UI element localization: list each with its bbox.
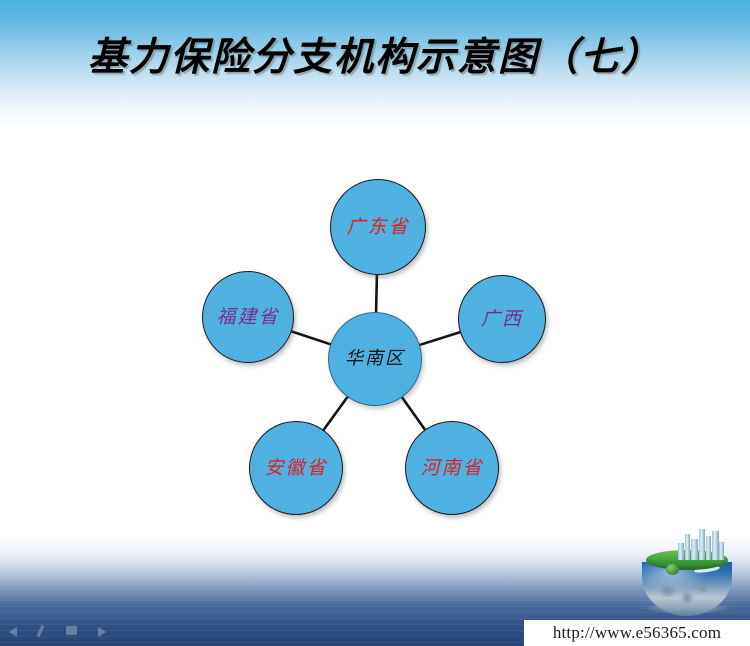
diagram-node-branch[interactable]: 福建省 [202,271,294,363]
diagram-node-branch[interactable]: 广东省 [330,179,426,275]
city-skyline-icon [678,528,724,560]
connector-line [323,396,348,431]
next-slide-icon[interactable] [92,624,108,638]
diagram-node-label: 广东省 [346,218,409,237]
diagram-node-branch[interactable]: 广西 [458,275,546,363]
tree-icon [666,564,679,575]
diagram-node-label: 广西 [481,310,523,329]
connector-line [419,332,461,345]
connector-line [402,397,426,431]
diagram-node-branch[interactable]: 安徽省 [249,421,343,515]
diagram-node-label: 安徽省 [264,459,327,478]
connector-line [291,331,332,344]
earth-city-globe-icon [634,528,740,616]
watermark-url: http://www.e56365.com [524,620,750,646]
presentation-slide: 基力保险分支机构示意图（七） 广东省福建省广西安徽省河南省华南区 http://… [0,0,750,646]
diagram-node-label: 福建省 [216,308,279,327]
slide-menu-icon[interactable] [64,624,80,638]
slideshow-nav-bar[interactable] [8,622,118,640]
diagram-node-branch[interactable]: 河南省 [405,421,499,515]
watermark-url-text: http://www.e56365.com [553,623,721,643]
pen-tool-icon[interactable] [36,624,52,638]
diagram-node-label: 河南省 [420,459,483,478]
diagram-node-center[interactable]: 华南区 [328,312,422,406]
connector-line [376,274,377,313]
diagram-node-label: 华南区 [345,350,405,368]
previous-slide-icon[interactable] [8,624,24,638]
